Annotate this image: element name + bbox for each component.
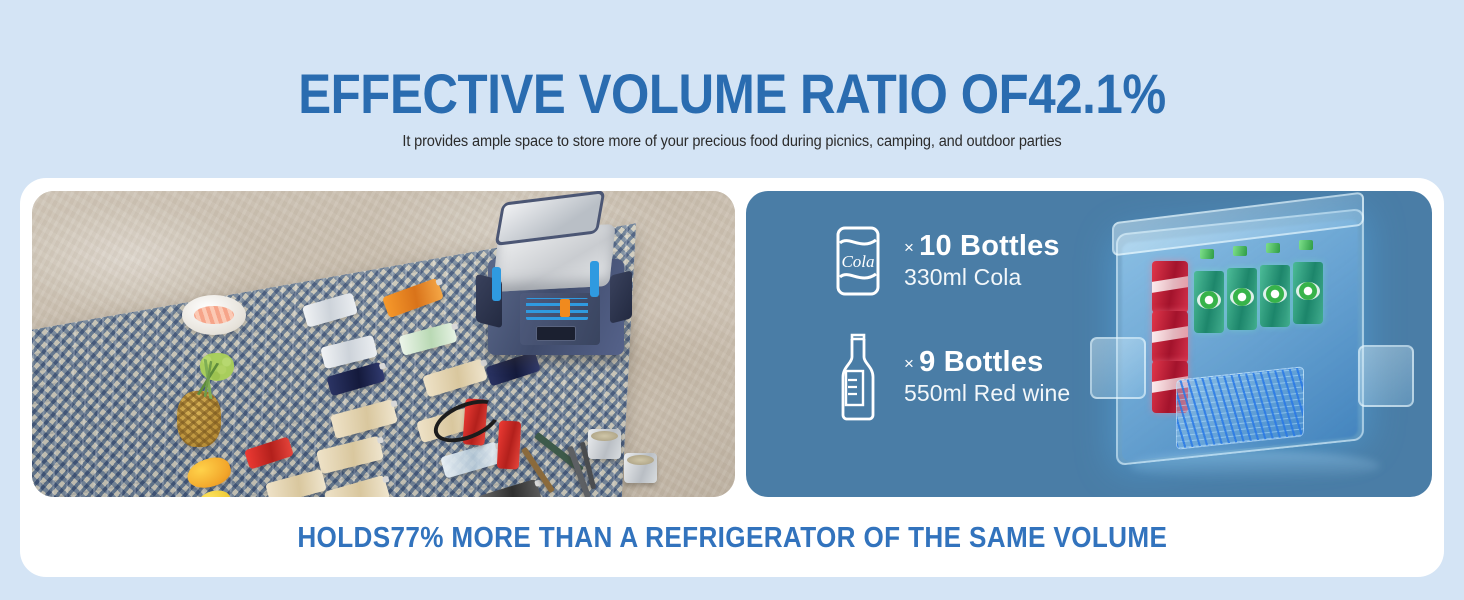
xray-side-handle-right bbox=[1358, 345, 1414, 407]
spec-detail-wine: 550ml Red wine bbox=[904, 380, 1070, 408]
header: EFFECTIVE VOLUME RATIO OF42.1% It provid… bbox=[0, 0, 1464, 151]
xray-beer-bottle bbox=[1260, 265, 1290, 327]
fridge-front-face bbox=[520, 293, 600, 345]
canned-tin bbox=[624, 453, 657, 483]
xray-fridge-render bbox=[1090, 205, 1420, 483]
spec-detail-cola: 330ml Cola bbox=[904, 264, 1060, 292]
spec-count-value: 10 Bottles bbox=[919, 230, 1060, 262]
multiplier-symbol: × bbox=[904, 354, 914, 373]
content-card: Cola ×10 Bottles 330ml Cola bbox=[20, 178, 1444, 577]
fridge-strap-vent bbox=[526, 298, 588, 320]
portable-refrigerator bbox=[474, 201, 638, 361]
lifestyle-photo bbox=[32, 191, 735, 497]
xray-bottle-cap bbox=[1266, 243, 1280, 253]
multiplier-symbol: × bbox=[904, 238, 914, 257]
red-can bbox=[497, 420, 521, 469]
xray-bottle-cap bbox=[1233, 246, 1247, 256]
wine-bottle-icon bbox=[830, 331, 886, 423]
spec-row-wine: ×9 Bottles 550ml Red wine bbox=[830, 331, 1070, 423]
page-title: EFFECTIVE VOLUME RATIO OF42.1% bbox=[88, 66, 1376, 122]
fridge-handle-left bbox=[492, 267, 501, 301]
xray-cola-can bbox=[1152, 311, 1188, 363]
xray-compressor bbox=[1176, 366, 1304, 449]
svg-text:Cola: Cola bbox=[841, 252, 874, 271]
fridge-orange-tab bbox=[560, 299, 570, 317]
xray-bottle-cap bbox=[1200, 249, 1214, 259]
xray-cola-can bbox=[1152, 261, 1188, 313]
pineapple bbox=[177, 391, 221, 447]
xray-side-handle-left bbox=[1090, 337, 1146, 399]
xray-beer-bottle bbox=[1227, 268, 1257, 330]
spec-text-wine: ×9 Bottles 550ml Red wine bbox=[904, 346, 1070, 408]
spec-text-cola: ×10 Bottles 330ml Cola bbox=[904, 230, 1060, 292]
canned-tin bbox=[588, 429, 621, 459]
xray-reflection bbox=[1130, 451, 1380, 481]
spec-count-wine: ×9 Bottles bbox=[904, 346, 1070, 378]
spec-row-cola: Cola ×10 Bottles 330ml Cola bbox=[830, 225, 1070, 297]
xray-beer-bottle bbox=[1194, 271, 1224, 333]
spec-list: Cola ×10 Bottles 330ml Cola bbox=[830, 225, 1070, 457]
page-subtitle: It provides ample space to store more of… bbox=[44, 133, 1420, 151]
xray-beer-bottle bbox=[1293, 262, 1323, 324]
banner-text: HOLDS77% MORE THAN A REFRIGERATOR OF THE… bbox=[297, 522, 1167, 555]
fridge-handle-right bbox=[590, 261, 599, 297]
xray-bottle-cap bbox=[1299, 240, 1313, 250]
capacity-spec-panel: Cola ×10 Bottles 330ml Cola bbox=[746, 191, 1432, 497]
spec-count-value: 9 Bottles bbox=[919, 346, 1043, 378]
spec-count-cola: ×10 Bottles bbox=[904, 230, 1060, 262]
cola-can-icon: Cola bbox=[830, 225, 886, 297]
plate-of-salmon bbox=[182, 295, 246, 335]
fridge-side-block-right bbox=[610, 270, 632, 323]
fridge-control-panel bbox=[536, 326, 576, 341]
bottom-banner: HOLDS77% MORE THAN A REFRIGERATOR OF THE… bbox=[20, 522, 1444, 555]
